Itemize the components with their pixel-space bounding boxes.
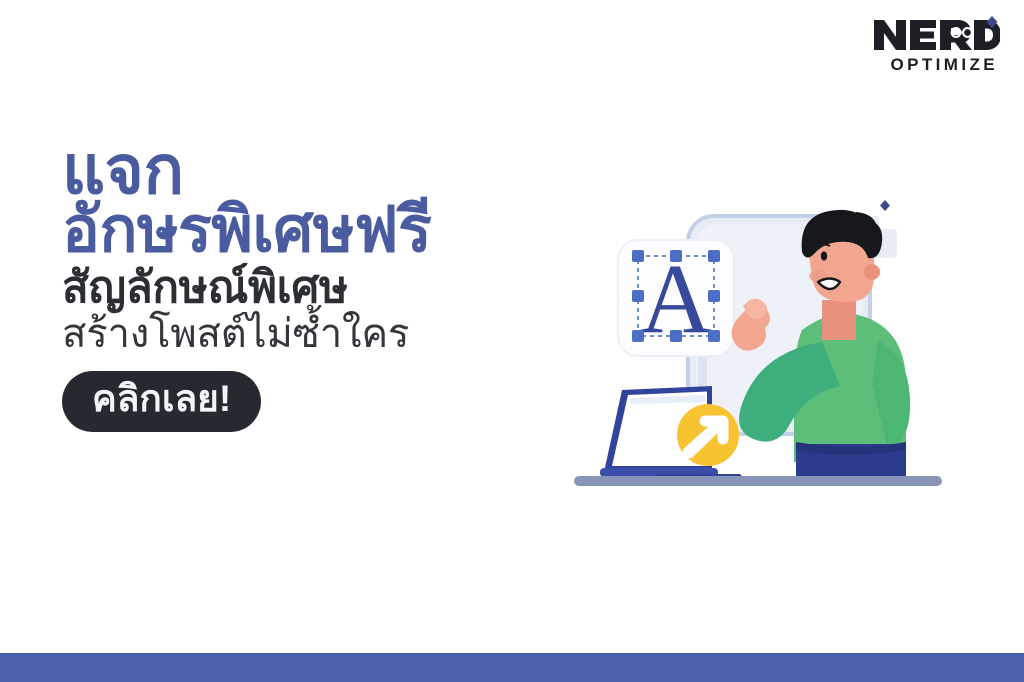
diamond-sparkle-icon: [880, 200, 890, 211]
bottom-accent-bar: [0, 653, 1024, 682]
logo-tagline: OPTIMIZE: [860, 56, 1000, 73]
headline-line-4: สร้างโพสต์ไม่ซ้ำใคร: [62, 312, 562, 357]
headline-line-2: อักษรพิเศษฟรี: [62, 198, 562, 262]
desk-surface: [574, 476, 942, 486]
letter-card[interactable]: A: [618, 240, 734, 356]
headline-line-1: แจก: [62, 138, 562, 204]
logo-wordmark: [860, 14, 1000, 54]
cta-button[interactable]: คลิกเลย!: [62, 371, 261, 432]
nerd-wordmark-icon: [872, 14, 1000, 56]
share-badge[interactable]: [677, 404, 739, 466]
banner-root: OPTIMIZE แจก อักษรพิเศษฟรี สัญลักษณ์พิเศ…: [0, 0, 1024, 682]
illustration-svg: A: [560, 190, 980, 510]
hero-illustration: A: [560, 190, 980, 510]
character-eye: [821, 251, 827, 260]
brand-logo[interactable]: OPTIMIZE: [860, 14, 1000, 86]
headline-line-3: สัญลักษณ์พิเศษ: [62, 264, 562, 312]
headline-block: แจก อักษรพิเศษฟรี สัญลักษณ์พิเศษ สร้างโพ…: [62, 138, 562, 432]
